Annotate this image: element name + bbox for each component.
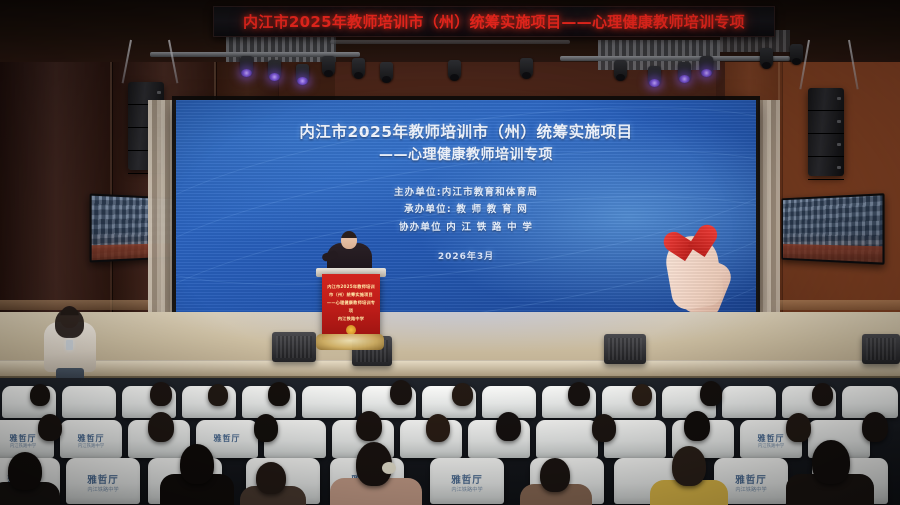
podium-line-3: 内江铁路中学: [326, 315, 376, 323]
seat-sublabel: 内江铁路中学: [740, 444, 802, 450]
led-screen: 内江市2025年教师培训市（州）统筹实施项目 ——心理健康教师培训专项 主办单位…: [176, 100, 756, 312]
stage-lamp-12: [700, 56, 713, 76]
audience-head: [256, 462, 286, 494]
stage-lamp-5: [352, 58, 365, 78]
stage-curtain-right: [754, 100, 780, 328]
seat-label: 雅哲厅: [196, 433, 258, 444]
right-wall-monitor: [781, 193, 884, 265]
audience-head: [496, 412, 521, 441]
stage-lamp-1: [240, 56, 253, 76]
seat: [62, 386, 116, 418]
attendee-phone: [66, 340, 73, 350]
stage-lamp-4: [322, 56, 335, 76]
hair-clip: [382, 462, 396, 474]
seat-sublabel: 内江铁路中学: [0, 444, 54, 450]
led-surface: 内江市2025年教师培训市（州）统筹实施项目 ——心理健康教师培训专项 主办单位…: [176, 100, 756, 312]
stage-lamp-11: [678, 62, 691, 82]
floor-monitor-4: [862, 334, 900, 364]
stage-lip: [0, 360, 900, 377]
podium: 内江市2025年教师培训市（州）统筹实施项目 ——心理健康教师培训专项 内江铁路…: [322, 274, 380, 340]
audience-head: [700, 381, 722, 406]
led-title: 内江市2025年教师培训市（州）统筹实施项目: [176, 122, 756, 143]
stage-lamp-14: [790, 44, 803, 64]
audience-head: [254, 414, 278, 442]
audience-head: [812, 440, 850, 484]
audience-head: [862, 412, 888, 442]
floor-monitor-3: [604, 334, 646, 364]
truss-bar-3: [330, 40, 570, 44]
stage-light-glow: [170, 312, 770, 352]
stage-lamp-3: [296, 64, 309, 84]
presenter-head: [341, 231, 357, 249]
stage-lamp-2: [268, 60, 281, 80]
audience-head: [268, 382, 290, 406]
seat: 雅哲厅 内江铁路中学: [430, 458, 504, 504]
audience-head: [786, 413, 811, 442]
seat-label: 雅哲厅 内江铁路中学: [430, 474, 504, 495]
audience-head: [568, 382, 590, 406]
overhead-led-banner: 内江市2025年教师培训市（州）统筹实施项目——心理健康教师培训专项: [213, 6, 775, 37]
audience-head: [452, 383, 473, 406]
audience-seating: 雅哲厅 内江铁路中学 雅哲厅 内江铁路中学 雅哲厅 雅哲厅 内江铁路中学: [0, 378, 900, 505]
audience-head: [540, 458, 570, 492]
stage-lamp-13: [760, 48, 773, 68]
audience-head: [38, 414, 62, 441]
podium-banner-text: 内江市2025年教师培训市（州）统筹实施项目 ——心理健康教师培训专项 内江铁路…: [326, 283, 376, 323]
speaker-cabinet: [808, 134, 844, 157]
podium-flowers: [316, 334, 384, 350]
seat-sublabel: 内江铁路中学: [66, 487, 140, 494]
speaker-cabinet: [808, 88, 844, 111]
audience-head: [208, 384, 228, 406]
auditorium-photo: 内江市2025年教师培训市（州）统筹实施项目 ——心理健康教师培训专项 主办单位…: [0, 0, 900, 505]
truss-bar-2: [560, 56, 790, 61]
audience-head: [390, 380, 412, 405]
seat: 雅哲厅 内江铁路中学: [60, 420, 122, 458]
audience-head: [148, 412, 174, 442]
stage-lamp-6: [380, 62, 393, 82]
audience-head: [632, 384, 652, 406]
stage-lamp-7: [448, 60, 461, 80]
line-array-speaker-right: [808, 88, 844, 176]
led-organizer-host: 主办单位:内江市教育和体育局: [176, 184, 756, 202]
floor-monitor-1: [272, 332, 316, 362]
podium-line-1: 内江市2025年教师培训市（州）统筹实施项目: [326, 283, 376, 299]
seat: [722, 386, 776, 418]
stage-curtain-left: [148, 100, 178, 328]
audience-head: [672, 446, 706, 486]
attendee-hair: [55, 308, 84, 338]
audience-head: [180, 444, 214, 484]
standing-attendee: [40, 300, 102, 386]
stage-lamp-10: [648, 66, 661, 86]
podium-line-2: ——心理健康教师培训专项: [326, 299, 376, 315]
speaker-cabinet: [808, 157, 844, 180]
seat-label: 雅哲厅 内江铁路中学: [60, 433, 122, 450]
banner-text: 内江市2025年教师培训市（州）统筹实施项目——心理健康教师培训专项: [243, 11, 745, 32]
seat: [302, 386, 356, 418]
audience-head: [812, 383, 833, 406]
seat-label: 雅哲厅 内江铁路中学: [66, 474, 140, 495]
audience-head: [426, 414, 450, 442]
audience-head: [150, 382, 172, 406]
seat-sublabel: 内江铁路中学: [60, 444, 122, 450]
stage-lamp-8: [520, 58, 533, 78]
hand-holding-heart-icon: [660, 212, 738, 308]
monitor-stage-area: [783, 244, 882, 263]
audience-head: [30, 384, 50, 406]
stage-lamp-9: [614, 60, 627, 80]
audience-head: [8, 452, 42, 490]
speaker-cabinet: [808, 111, 844, 134]
seat: [536, 420, 598, 458]
audience-head: [356, 411, 382, 441]
audience-head: [684, 411, 710, 441]
seat: 雅哲厅 内江铁路中学: [66, 458, 140, 504]
led-subtitle: ——心理健康教师培训专项: [176, 145, 756, 166]
audience-head: [592, 414, 616, 442]
seat-sublabel: 内江铁路中学: [430, 487, 504, 494]
